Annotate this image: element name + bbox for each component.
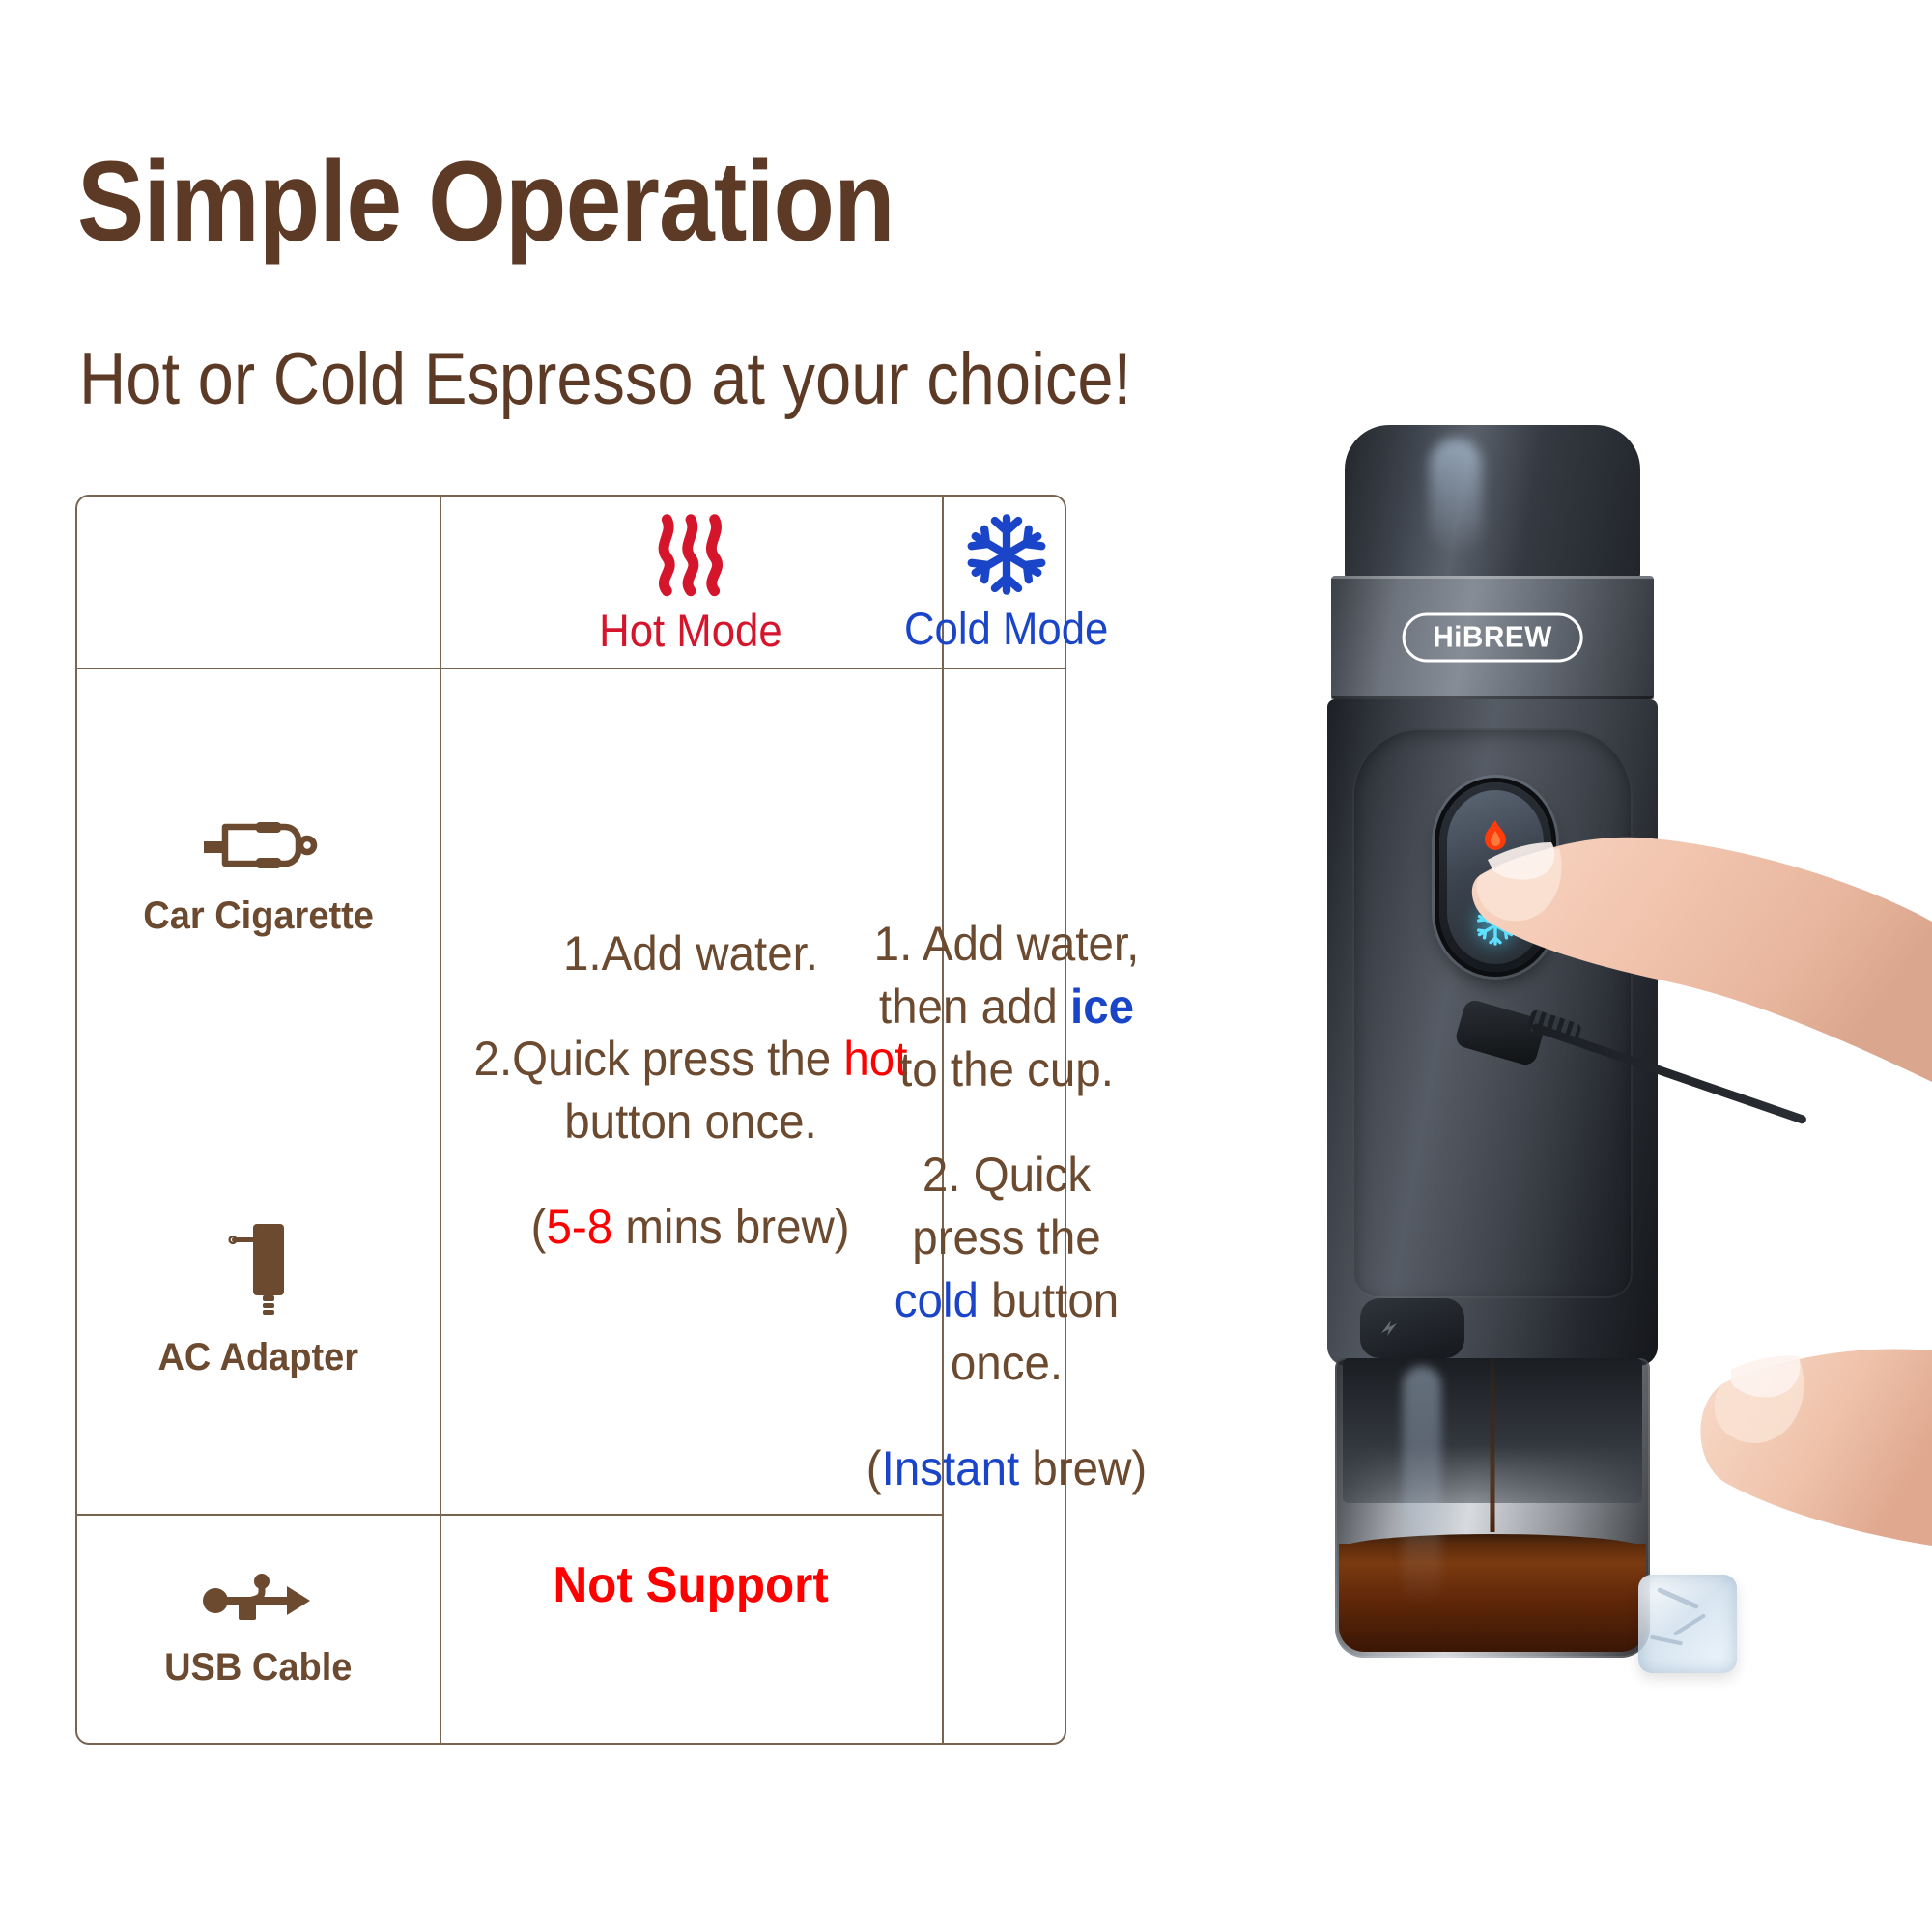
power-source-usb-cable: USB Cable bbox=[77, 1516, 440, 1747]
cold-keyword-cold: cold bbox=[894, 1273, 978, 1327]
cold-mode-label: Cold Mode bbox=[904, 606, 1108, 651]
hot-brew-time: 5-8 bbox=[547, 1200, 613, 1254]
cold-mode-instructions: 1. Add water, then add ice to the cup. 2… bbox=[944, 668, 1068, 1745]
usb-cable-label: USB Cable bbox=[164, 1646, 352, 1690]
snowflake-icon bbox=[965, 513, 1048, 596]
cold-step-1: 1. Add water, then add ice to the cup. bbox=[864, 913, 1149, 1101]
hot-step-2: 2.Quick press the hot button once. bbox=[465, 1028, 916, 1153]
note-paren-open: ( bbox=[531, 1200, 547, 1254]
cold-keyword-ice: ice bbox=[1070, 980, 1134, 1034]
cold-brew-note-post: brew) bbox=[1019, 1441, 1147, 1495]
operation-comparison-table: Hot Mode bbox=[75, 495, 1066, 1745]
ac-adapter-label: AC Adapter bbox=[158, 1336, 359, 1379]
cold-step-2-pre: 2. Quick press the bbox=[912, 1148, 1100, 1264]
status-badge-not-support: Not Support bbox=[553, 1556, 828, 1614]
column-header-hot-mode: Hot Mode bbox=[440, 497, 942, 668]
infographic-page: Simple Operation Hot or Cold Espresso at… bbox=[0, 0, 1932, 1932]
spacer bbox=[857, 1395, 1156, 1437]
ac-adapter-icon bbox=[213, 1218, 305, 1319]
cold-brew-note: (Instant brew) bbox=[864, 1437, 1149, 1500]
product-photo: HiBREW bbox=[1140, 406, 1932, 1855]
hot-step-2-pre: 2.Quick press the bbox=[474, 1032, 844, 1086]
cold-step-2: 2. Quick press the cold button once. bbox=[864, 1144, 1149, 1395]
heat-waves-icon bbox=[648, 511, 733, 598]
spacer bbox=[857, 1101, 1156, 1144]
hot-brew-note: (5-8 mins brew) bbox=[531, 1196, 850, 1259]
cold-step-1-post: to the cup. bbox=[899, 1042, 1114, 1096]
usb-icon bbox=[202, 1573, 316, 1629]
pressing-hand bbox=[1140, 406, 1932, 1855]
column-header-cold-mode: Cold Mode bbox=[944, 497, 1068, 668]
car-cigarette-plug-icon bbox=[196, 813, 322, 877]
car-cigarette-label: Car Cigarette bbox=[143, 895, 374, 938]
usb-not-support-cell: Not Support bbox=[440, 1516, 942, 1747]
power-source-car-cigarette: Car Cigarette bbox=[77, 668, 440, 1083]
hot-step-2-post: button once. bbox=[564, 1094, 816, 1149]
hot-brew-note-post: mins brew) bbox=[613, 1200, 850, 1254]
power-source-ac-adapter: AC Adapter bbox=[77, 1083, 440, 1514]
page-title: Simple Operation bbox=[77, 145, 895, 259]
cold-brew-time: Instant bbox=[881, 1441, 1019, 1495]
hot-mode-label: Hot Mode bbox=[599, 608, 782, 653]
note-paren-open: ( bbox=[866, 1441, 881, 1495]
hot-step-1: 1.Add water. bbox=[563, 923, 818, 985]
page-subtitle: Hot or Cold Espresso at your choice! bbox=[79, 343, 1131, 416]
